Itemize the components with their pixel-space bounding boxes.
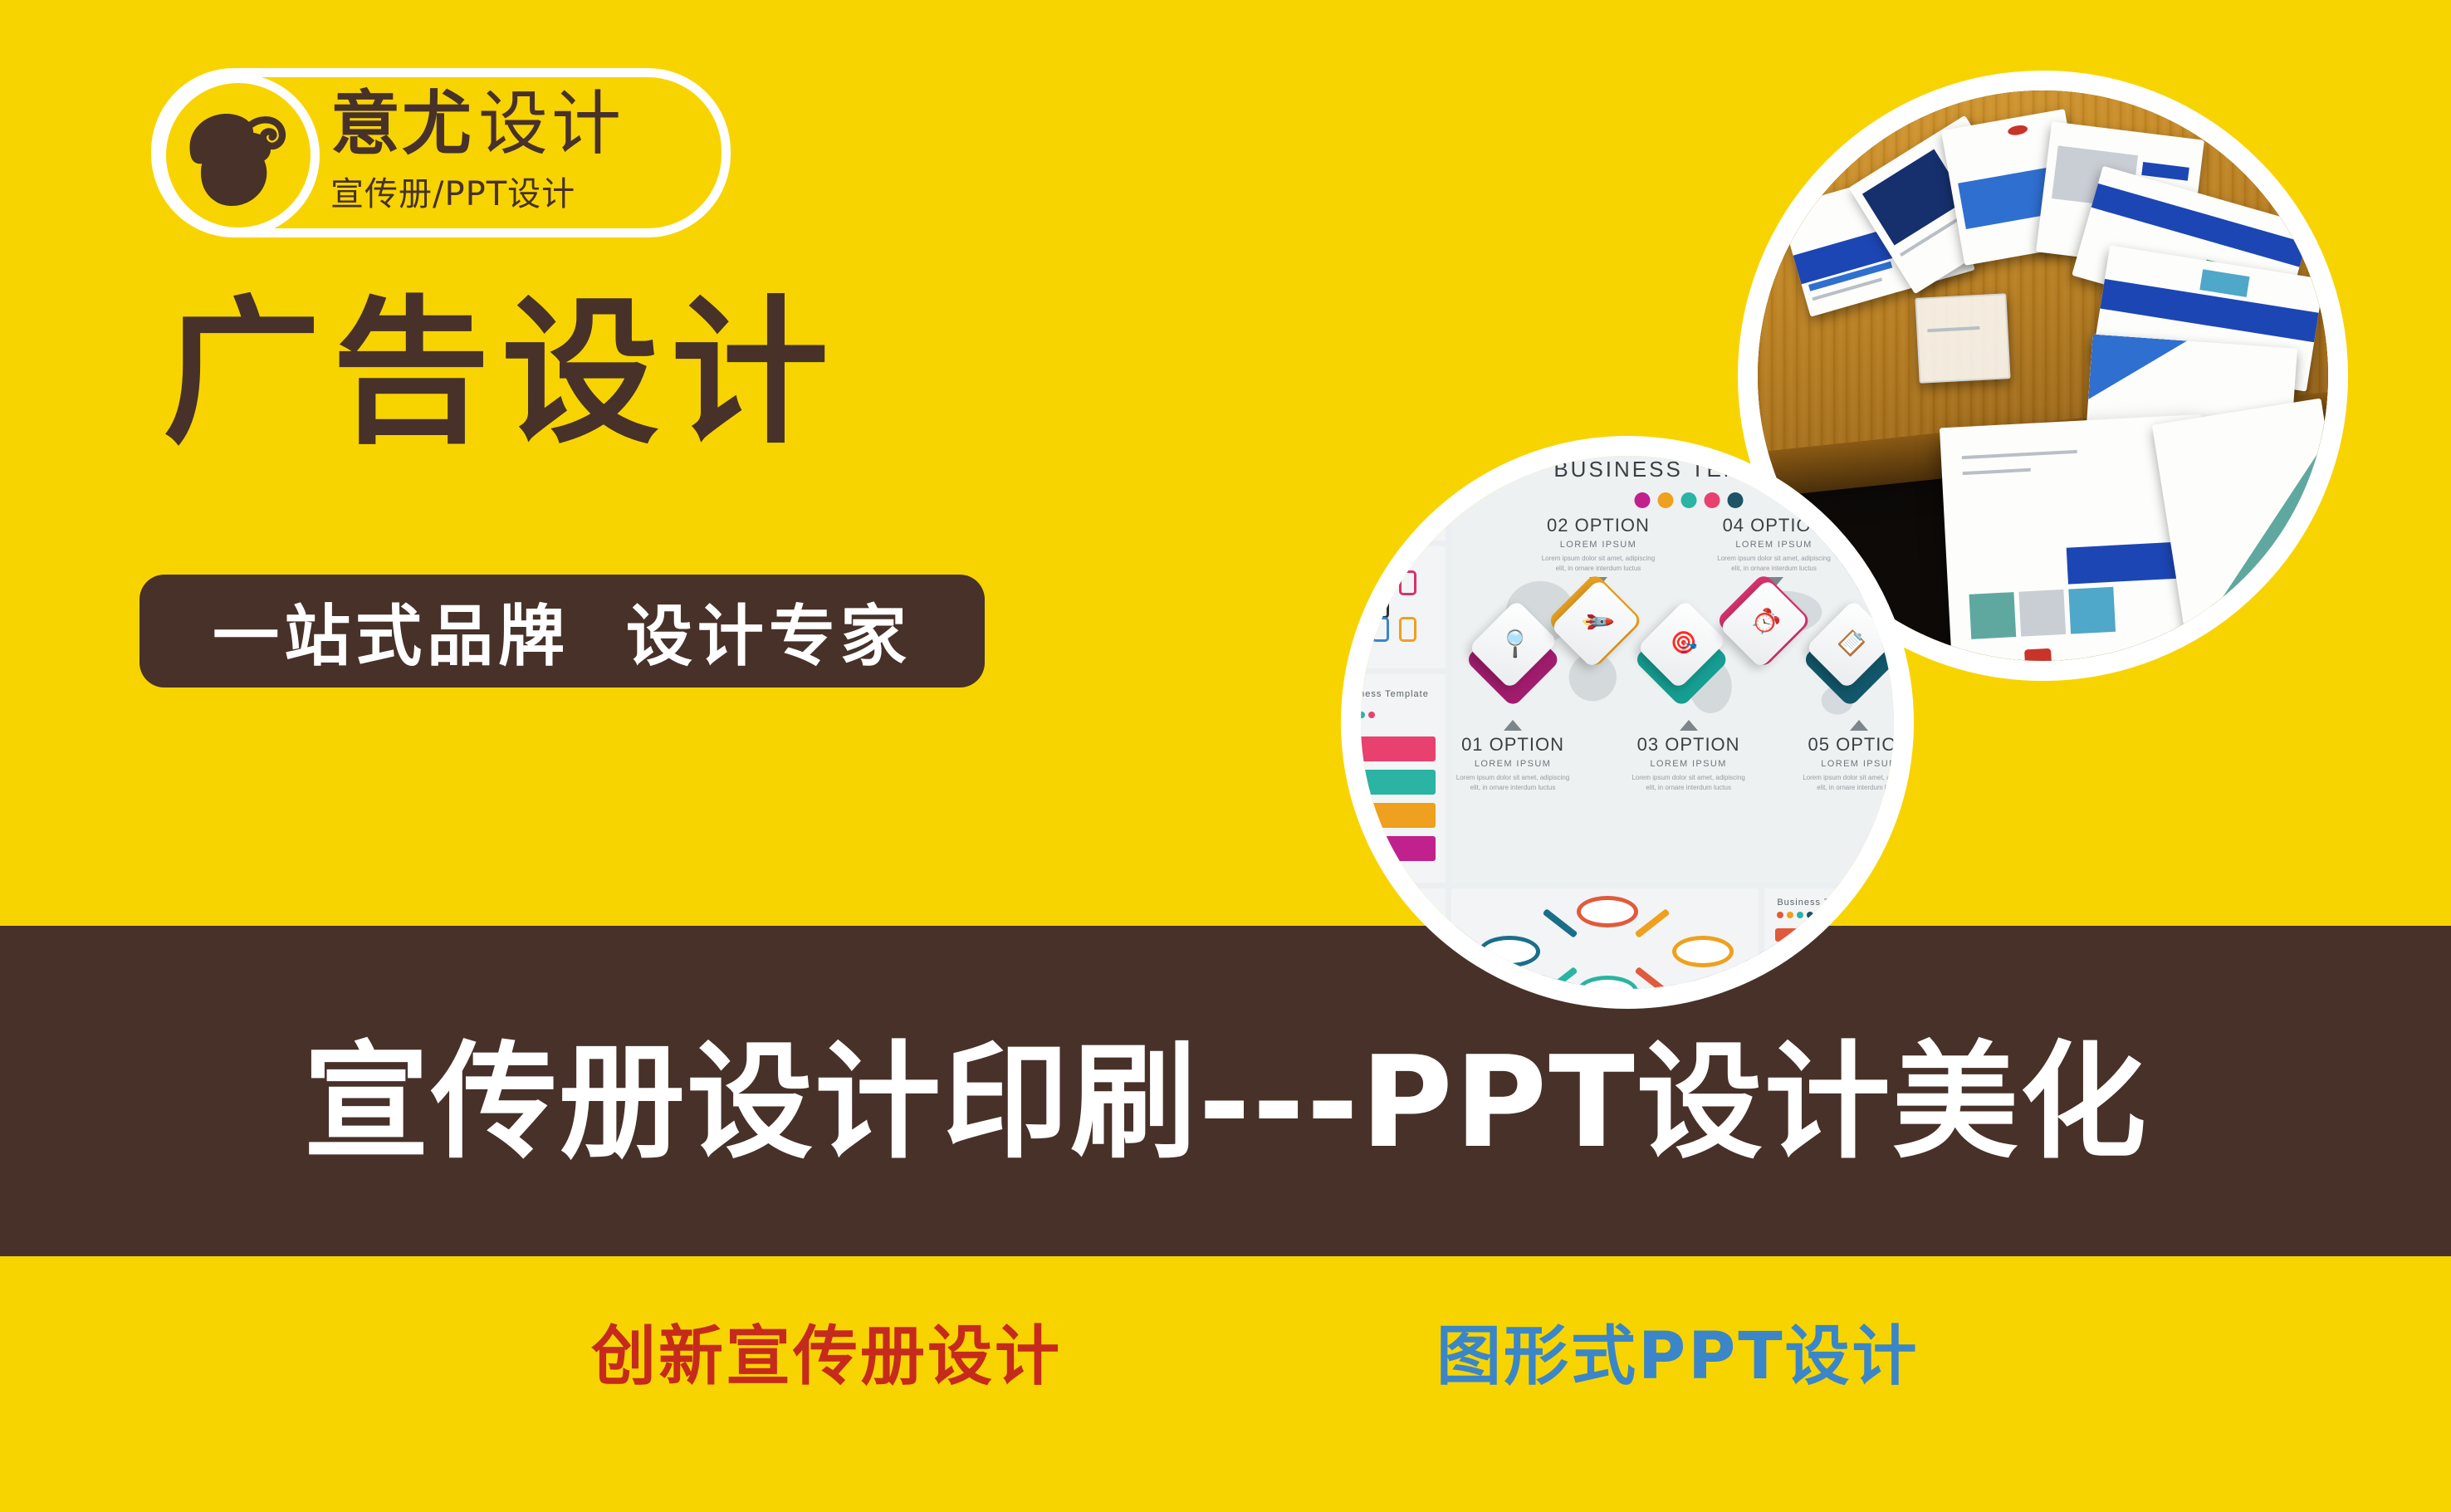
tagline-pill: 一站式品牌 设计专家 — [139, 575, 985, 687]
ppt-diamond: 🔍 — [1479, 617, 1547, 685]
ppt-option-label: 01 OPTION LOREM IPSUM Lorem ipsum dolor … — [1455, 717, 1569, 793]
ppt-option-label: 05 OPTION LOREM IPSUM Lorem ipsum dolor … — [1803, 717, 1894, 793]
ppt-diamond: 🎯 — [1647, 617, 1715, 685]
option-body: Lorem ipsum dolor sit amet, adipiscing e… — [1541, 554, 1655, 574]
ppt-slide-grid: Business Template BUSINESS TEMPLATE — [1361, 456, 1894, 989]
ppt-small-slide — [1361, 456, 1446, 541]
bottom-taglines: 创新宣传册设计 图形式PPT设计 — [0, 1256, 2451, 1512]
option-sub: LOREM IPSUM — [1717, 540, 1831, 550]
poster-canvas: Business Template BUSINESS TEMPLATE — [0, 0, 2451, 1512]
option-number: 03 OPTION — [1632, 734, 1745, 756]
clock-icon: ⏰ — [1747, 603, 1784, 640]
logo-name-thin: 设计 — [478, 89, 624, 159]
option-number: 05 OPTION — [1803, 734, 1894, 756]
option-number: 02 OPTION — [1541, 515, 1655, 536]
ppt-option-label: 03 OPTION LOREM IPSUM Lorem ipsum dolor … — [1632, 717, 1745, 793]
arrow-up-icon — [1850, 720, 1868, 731]
main-banner: 宣传册设计印刷---PPT设计美化 — [0, 926, 2451, 1256]
ppt-dot-row — [1777, 912, 1813, 918]
option-number: 04 OPTION — [1717, 515, 1831, 536]
ppt-main-dot-row — [1634, 492, 1743, 508]
option-sub: LOREM IPSUM — [1455, 759, 1569, 769]
arrow-up-icon — [1680, 720, 1698, 731]
ppt-slide-head: Business Template — [1777, 898, 1867, 908]
option-number: 01 OPTION — [1455, 734, 1569, 756]
option-body: Lorem ipsum dolor sit amet, adipiscing e… — [1455, 773, 1569, 793]
tagline-blue: 图形式PPT设计 — [1436, 1304, 1920, 1397]
logo-text: 意尤 设计 宣传册/PPT设计 — [330, 81, 721, 238]
option-body: Lorem ipsum dolor sit amet, adipiscing e… — [1803, 773, 1894, 793]
brand-logo[interactable]: 意尤 设计 宣传册/PPT设计 — [151, 68, 731, 237]
tagline-pill-text: 一站式品牌 设计专家 — [213, 583, 912, 679]
page-title: 广告设计 — [163, 295, 840, 453]
ppt-dot-row — [1361, 712, 1375, 718]
option-sub: LOREM IPSUM — [1803, 759, 1894, 769]
ppt-slide-head: Business Template — [1361, 689, 1429, 699]
ppt-option-label: 04 OPTION LOREM IPSUM Lorem ipsum dolor … — [1717, 515, 1831, 591]
ppt-small-slide: Business Template — [1361, 674, 1446, 882]
clipboard-icon: 📋 — [1833, 624, 1871, 662]
rocket-icon: 🚀 — [1578, 603, 1616, 640]
ppt-collage-circle: Business Template BUSINESS TEMPLATE — [1341, 436, 1914, 1009]
option-body: Lorem ipsum dolor sit amet, adipiscing e… — [1632, 773, 1745, 793]
arrow-up-icon — [1504, 720, 1522, 731]
ppt-diamond: 📋 — [1816, 617, 1884, 685]
main-banner-text: 宣传册设计印刷---PPT设计美化 — [303, 1000, 2148, 1182]
option-sub: LOREM IPSUM — [1632, 759, 1745, 769]
ppt-diamond: 🚀 — [1561, 595, 1629, 663]
ppt-main-title: BUSINESS TEMPLATE — [1553, 457, 1823, 482]
option-body: Lorem ipsum dolor sit amet, adipiscing e… — [1717, 554, 1831, 574]
ppt-diamond-row: 🔍 🚀 🎯 ⏰ — [1460, 595, 1894, 712]
ppt-main-slide: BUSINESS TEMPLATE 02 OPTION LOREM IPSUM … — [1451, 456, 1894, 883]
logo-subtitle: 宣传册/PPT设计 — [330, 167, 721, 215]
target-icon: 🎯 — [1665, 624, 1702, 662]
magnifier-icon: 🔍 — [1496, 624, 1534, 662]
ppt-small-slide — [1361, 546, 1446, 669]
tagline-red: 创新宣传册设计 — [591, 1304, 1062, 1397]
logo-name-bold: 意尤 — [330, 89, 473, 159]
option-sub: LOREM IPSUM — [1541, 540, 1655, 550]
bird-leaf-logo-icon — [170, 86, 310, 225]
ppt-diamond: ⏰ — [1729, 595, 1798, 663]
ppt-dot-row — [1361, 912, 1385, 918]
card-holder — [1915, 294, 2011, 384]
